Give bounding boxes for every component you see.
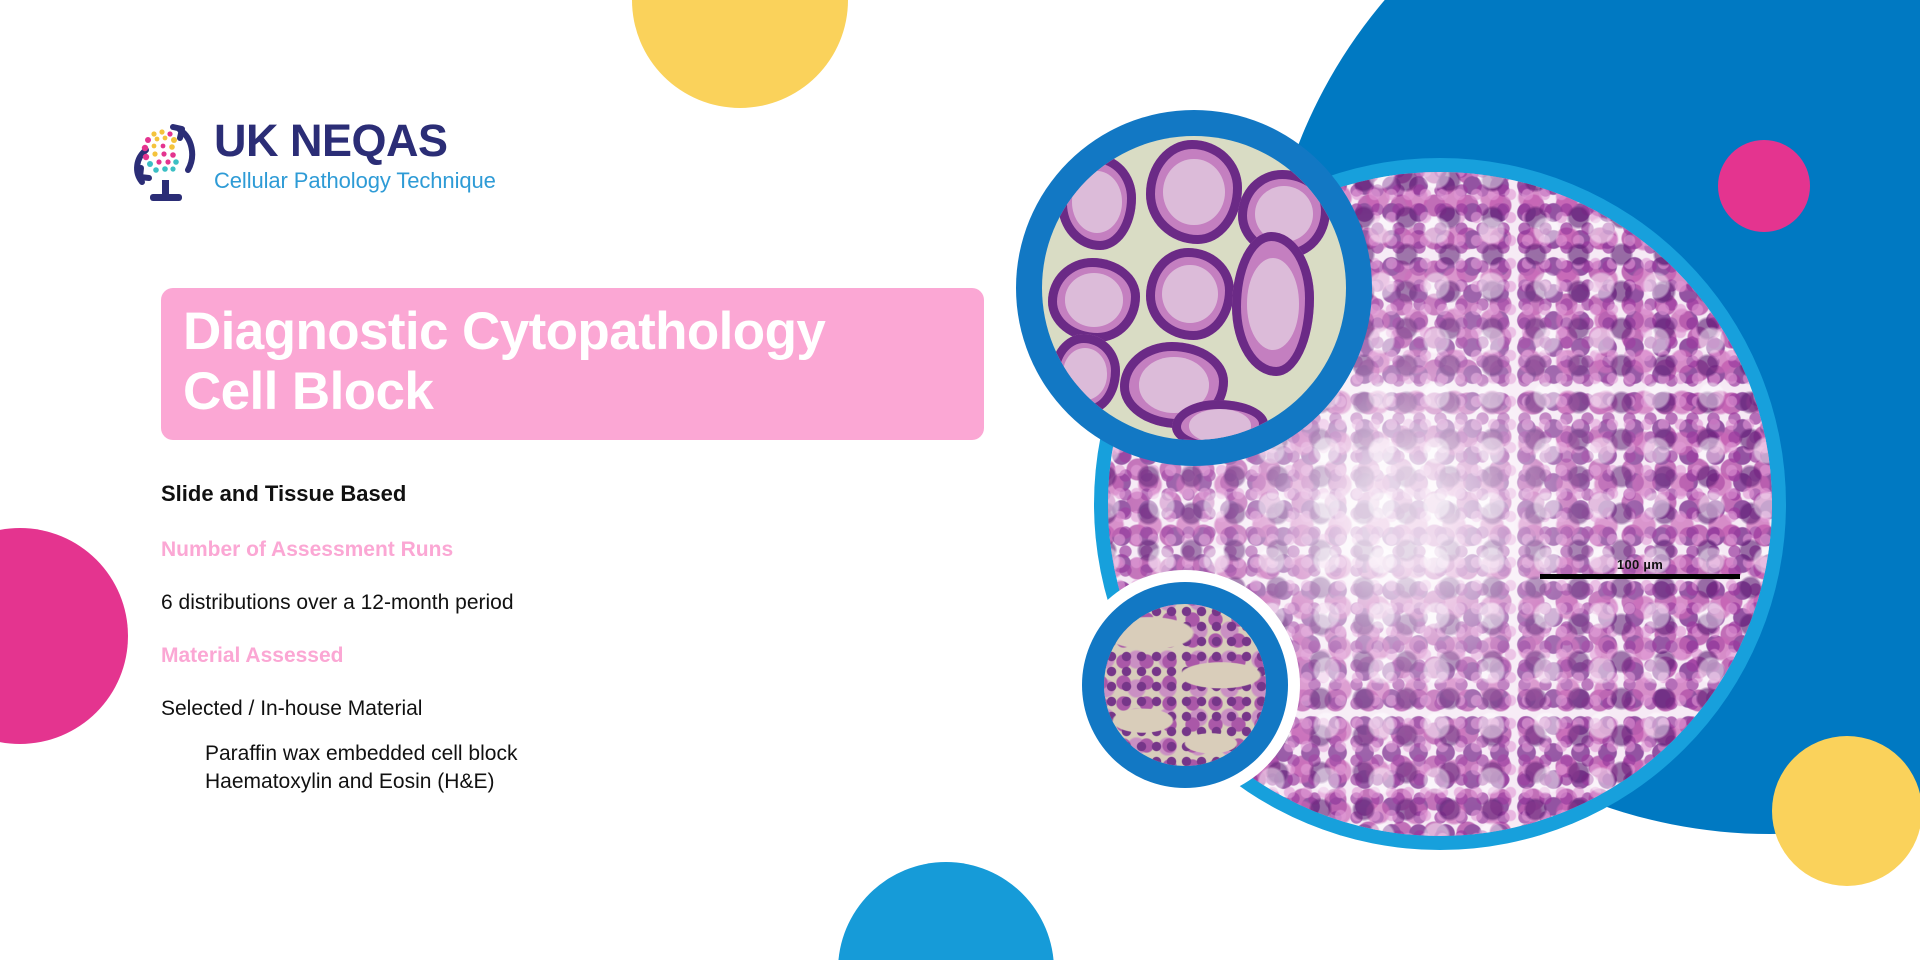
poster-canvas: 100 µm: [0, 0, 1920, 960]
cytology-micrograph-inset-bottom: [1104, 604, 1266, 766]
micrograph-inset-bottom-halo: [1070, 570, 1300, 800]
page-title-line-1: Diagnostic Cytopathology: [183, 302, 825, 361]
brand-logo: UK NEQAS Cellular Pathology Technique: [130, 116, 600, 208]
assessment-runs-value: 6 distributions over a 12-month period: [161, 589, 921, 616]
assessment-runs-label: Number of Assessment Runs: [161, 536, 921, 563]
decor-circle-magenta-left: [0, 528, 128, 744]
scale-bar: 100 µm: [1540, 558, 1740, 579]
scheme-type: Slide and Tissue Based: [161, 480, 921, 508]
scale-bar-label: 100 µm: [1540, 558, 1740, 572]
material-assessed-value: Selected / In-house Material: [161, 695, 921, 722]
inset-bottom-stroma: [1104, 604, 1266, 766]
material-item: Paraffin wax embedded cell block: [205, 740, 921, 768]
micrograph-inset-top-ring: [1016, 110, 1372, 466]
page-title-line-2: Cell Block: [183, 362, 433, 421]
page-title: Diagnostic Cytopathology Cell Block: [183, 302, 962, 422]
material-assessed-label: Material Assessed: [161, 642, 921, 669]
brand-logo-title: UK NEQAS: [214, 116, 496, 166]
decor-circle-yellow-bottom-right: [1772, 736, 1920, 886]
decor-circle-yellow-top: [632, 0, 848, 108]
brand-logo-subtitle: Cellular Pathology Technique: [214, 168, 496, 194]
scheme-details: Slide and Tissue Based Number of Assessm…: [161, 480, 921, 796]
material-item: Haematoxylin and Eosin (H&E): [205, 768, 921, 796]
material-items-list: Paraffin wax embedded cell block Haemato…: [161, 740, 921, 796]
brand-logo-text: UK NEQAS Cellular Pathology Technique: [214, 116, 496, 194]
title-banner: Diagnostic Cytopathology Cell Block: [161, 288, 984, 440]
scale-bar-line: [1540, 574, 1740, 579]
microscope-globe-icon: [130, 118, 204, 204]
decor-circle-blue-bottom: [838, 862, 1054, 960]
histology-micrograph-inset-top: [1042, 136, 1346, 440]
micrograph-inset-bottom-ring: [1082, 582, 1288, 788]
